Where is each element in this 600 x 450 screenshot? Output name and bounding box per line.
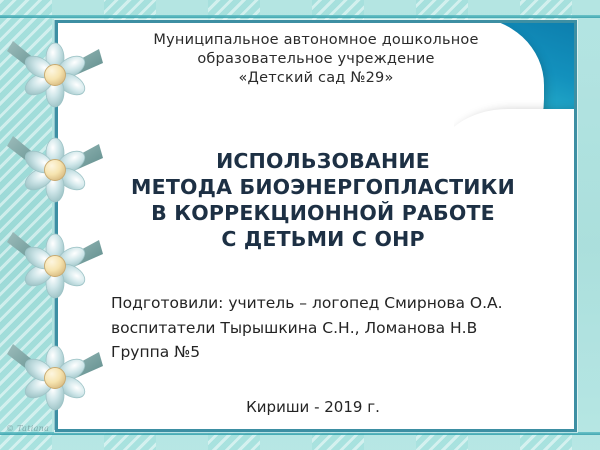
institution-line-1: Муниципальное автономное дошкольное [116,31,516,50]
authors-block: Подготовили: учитель – логопед Смирнова … [111,291,561,365]
background-top-rule [0,15,600,18]
title-line-4: С ДЕТЬМИ С ОНР [78,226,568,252]
background-bottom-rule [0,432,600,435]
content-card-surface: Муниципальное автономное дошкольное обра… [58,23,574,429]
authors-line-1: Подготовили: учитель – логопед Смирнова … [111,291,561,316]
authors-line-2: воспитатели Тырышкина С.Н., Ломанова Н.В [111,316,561,341]
title-line-1: ИСПОЛЬЗОВАНИЕ [78,148,568,174]
title-line-2: МЕТОДА БИОЭНЕРГОПЛАСТИКИ [78,174,568,200]
institution-header: Муниципальное автономное дошкольное обра… [116,31,516,88]
institution-line-3: «Детский сад №29» [116,69,516,88]
content-card: Муниципальное автономное дошкольное обра… [55,20,577,432]
presentation-title-slide: Муниципальное автономное дошкольное обра… [0,0,600,450]
title-line-3: В КОРРЕКЦИОННОЙ РАБОТЕ [78,200,568,226]
watermark-signature: © Tatiana [6,424,49,433]
institution-line-2: образовательное учреждение [116,50,516,69]
city-year-footer: Кириши - 2019 г. [78,398,548,416]
page-title: ИСПОЛЬЗОВАНИЕ МЕТОДА БИОЭНЕРГОПЛАСТИКИ В… [78,148,568,252]
authors-line-3: Группа №5 [111,340,561,365]
